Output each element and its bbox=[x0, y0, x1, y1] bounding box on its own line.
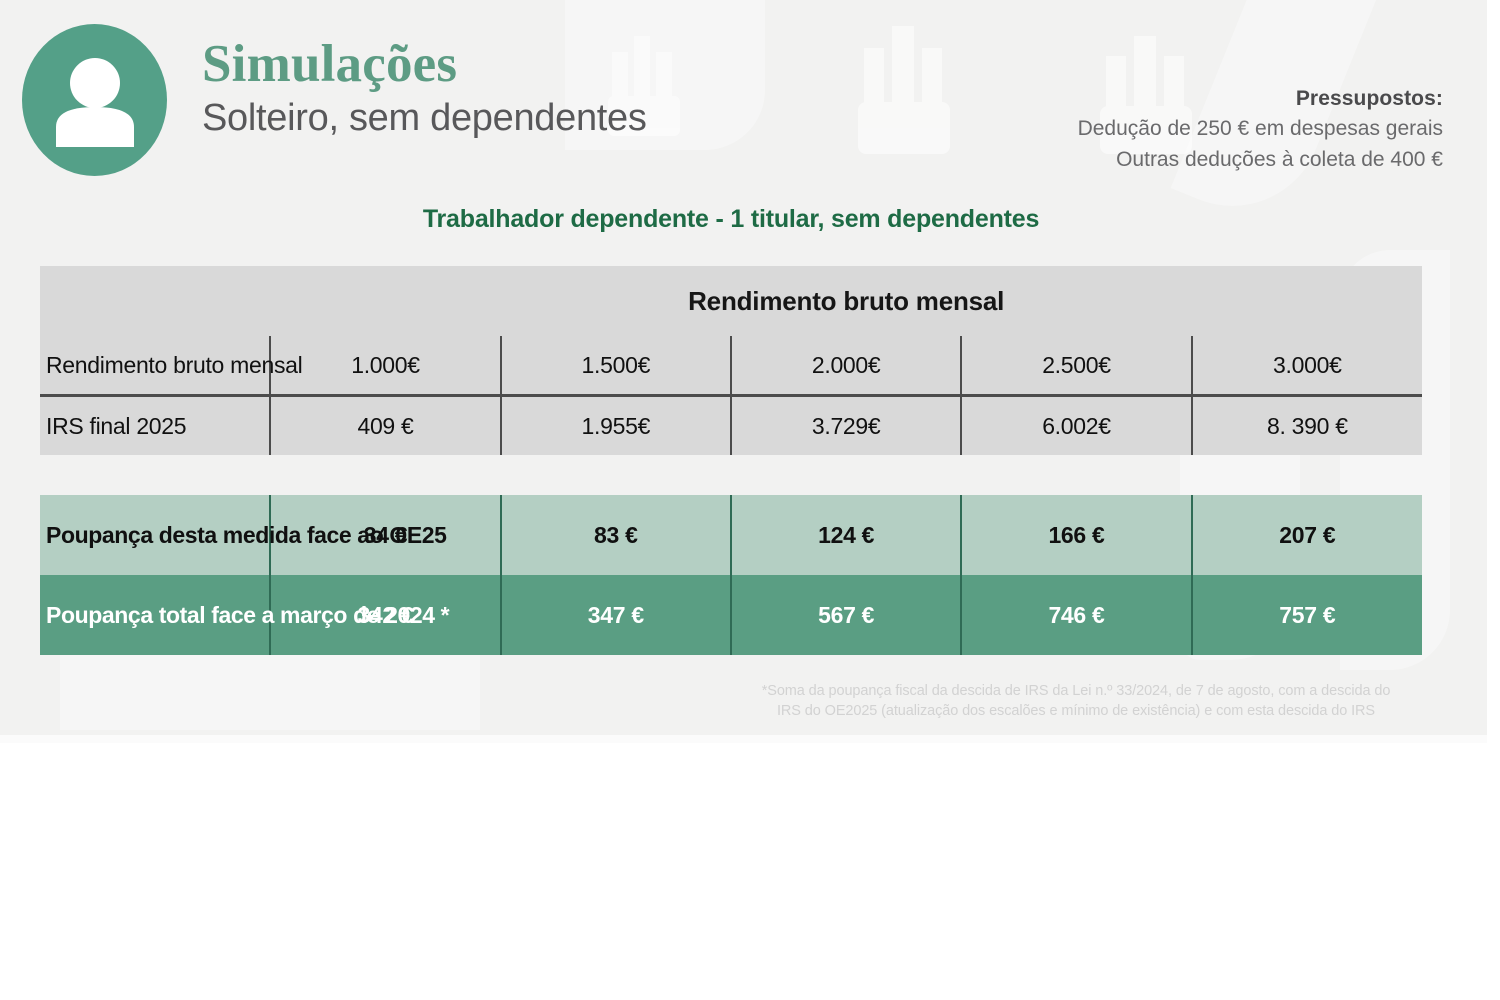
table-cell: 409 € bbox=[270, 396, 500, 456]
table-block-savings-total: Poupança total face a março de 2024 * 34… bbox=[40, 575, 1422, 655]
row-label: Poupança total face a março de 2024 * bbox=[40, 575, 270, 655]
page-subtitle: Solteiro, sem dependentes bbox=[202, 99, 647, 139]
table-row: Rendimento bruto mensal 1.000€ 1.500€ 2.… bbox=[40, 336, 1422, 396]
slide-bottom-edge bbox=[0, 735, 1487, 743]
row-label: Rendimento bruto mensal bbox=[40, 336, 270, 396]
table-block-savings-measure: Poupança desta medida face ao OE25 34 € … bbox=[40, 495, 1422, 575]
avatar bbox=[22, 24, 167, 176]
assumptions-line-2: Outras deduções à coleta de 400 € bbox=[1078, 145, 1443, 175]
row-label: IRS final 2025 bbox=[40, 396, 270, 456]
column-group-header: Rendimento bruto mensal bbox=[270, 266, 1422, 336]
header-spacer-cell bbox=[40, 266, 270, 336]
table-cell: 83 € bbox=[501, 495, 731, 575]
page-header: Simulações Solteiro, sem dependentes Pre… bbox=[0, 0, 1487, 200]
table-cell: 3.000€ bbox=[1192, 336, 1422, 396]
footnote-line-2: IRS do OE2025 (atualização dos escalões … bbox=[690, 702, 1462, 722]
table-row: Poupança total face a março de 2024 * 34… bbox=[40, 575, 1422, 655]
table-cell: 124 € bbox=[731, 495, 961, 575]
footnote-line-1: *Soma da poupança fiscal da descida de I… bbox=[690, 682, 1462, 702]
table-cell: 1.500€ bbox=[501, 336, 731, 396]
table-cell: 2.500€ bbox=[961, 336, 1191, 396]
assumptions-block: Pressupostos: Dedução de 250 € em despes… bbox=[1078, 84, 1443, 175]
page-title: Simulações bbox=[202, 38, 647, 91]
table-cell: 746 € bbox=[961, 575, 1191, 655]
footnote: *Soma da poupança fiscal da descida de I… bbox=[690, 682, 1462, 721]
table-cell: 8. 390 € bbox=[1192, 396, 1422, 456]
section-caption: Trabalhador dependente - 1 titular, sem … bbox=[0, 205, 1462, 234]
table-gap bbox=[40, 455, 1422, 495]
simulation-table: Rendimento bruto mensal Rendimento bruto… bbox=[40, 266, 1422, 655]
assumptions-title: Pressupostos: bbox=[1078, 84, 1443, 114]
slide-canvas: Simulações Solteiro, sem dependentes Pre… bbox=[0, 0, 1487, 735]
row-label: Poupança desta medida face ao OE25 bbox=[40, 495, 270, 575]
title-block: Simulações Solteiro, sem dependentes bbox=[202, 38, 647, 139]
table-row: Poupança desta medida face ao OE25 34 € … bbox=[40, 495, 1422, 575]
table-header-row: Rendimento bruto mensal bbox=[40, 266, 1422, 336]
table-block-grey: Rendimento bruto mensal Rendimento bruto… bbox=[40, 266, 1422, 455]
table-cell: 207 € bbox=[1192, 495, 1422, 575]
table-cell: 2.000€ bbox=[731, 336, 961, 396]
table-cell: 1.000€ bbox=[270, 336, 500, 396]
table-cell: 347 € bbox=[501, 575, 731, 655]
table-cell: 567 € bbox=[731, 575, 961, 655]
table-cell: 757 € bbox=[1192, 575, 1422, 655]
table-cell: 1.955€ bbox=[501, 396, 731, 456]
table-row: IRS final 2025 409 € 1.955€ 3.729€ 6.002… bbox=[40, 396, 1422, 456]
table-cell: 3.729€ bbox=[731, 396, 961, 456]
assumptions-line-1: Dedução de 250 € em despesas gerais bbox=[1078, 114, 1443, 144]
table-cell: 6.002€ bbox=[961, 396, 1191, 456]
person-avatar-icon bbox=[52, 57, 138, 147]
table-cell: 166 € bbox=[961, 495, 1191, 575]
